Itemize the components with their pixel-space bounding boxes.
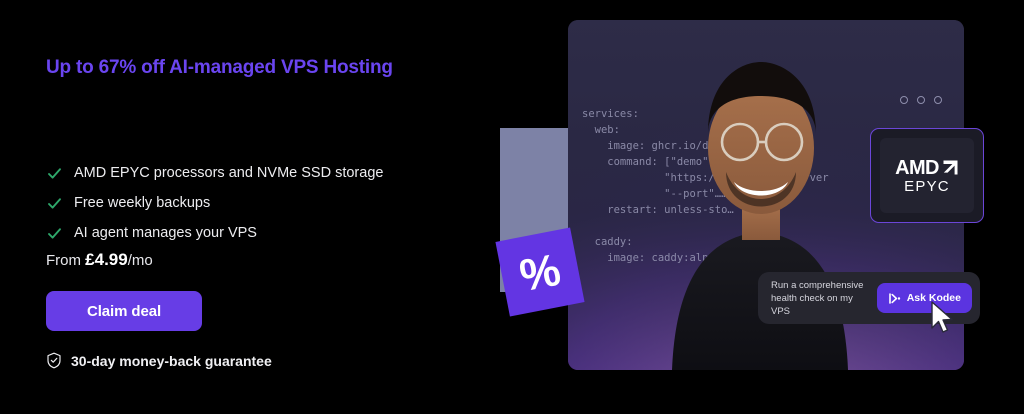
guarantee-badge: 30-day money-back guarantee xyxy=(46,352,272,369)
check-icon xyxy=(46,225,63,242)
window-dot-icon xyxy=(934,96,942,104)
promo-banner: Up to 67% off AI-managed VPS Hosting AMD… xyxy=(0,0,1024,414)
page-title: Up to 67% off AI-managed VPS Hosting xyxy=(46,56,446,80)
list-item: Free weekly backups xyxy=(46,191,383,215)
feature-label: AMD EPYC processors and NVMe SSD storage xyxy=(74,164,383,182)
ask-kodee-button[interactable]: Ask Kodee xyxy=(877,283,972,313)
feature-label: Free weekly backups xyxy=(74,194,210,212)
amd-brand-label: AMD xyxy=(895,158,939,178)
price-prefix: From xyxy=(46,252,81,269)
cursor-arrow-icon xyxy=(928,300,956,336)
amd-epyc-badge: AMD EPYC xyxy=(870,128,984,223)
feature-list: AMD EPYC processors and NVMe SSD storage… xyxy=(46,161,383,251)
window-controls xyxy=(900,96,942,104)
promo-copy-column: Up to 67% off AI-managed VPS Hosting AMD… xyxy=(46,56,446,80)
hero-visual: services: web: image: ghcr.io/de…………ine … xyxy=(480,0,1024,414)
epyc-label: EPYC xyxy=(904,179,950,194)
amd-arrow-icon xyxy=(942,159,959,176)
guarantee-label: 30-day money-back guarantee xyxy=(71,353,272,369)
kodee-icon xyxy=(888,292,901,305)
price-line: From £4.99/mo xyxy=(46,250,153,270)
amd-badge-inner: AMD EPYC xyxy=(880,138,974,213)
code-snippet: services: web: image: ghcr.io/de…………ine … xyxy=(582,106,829,266)
list-item: AI agent manages your VPS xyxy=(46,221,383,245)
window-dot-icon xyxy=(917,96,925,104)
shield-check-icon xyxy=(46,352,62,369)
check-icon xyxy=(46,195,63,212)
claim-deal-button[interactable]: Claim deal xyxy=(46,291,202,331)
chat-message: Run a comprehensive health check on my V… xyxy=(771,279,869,318)
feature-label: AI agent manages your VPS xyxy=(74,224,257,242)
discount-badge: % xyxy=(495,227,584,316)
percent-glyph: % xyxy=(516,246,564,298)
price-amount: £4.99 xyxy=(85,250,128,269)
window-dot-icon xyxy=(900,96,908,104)
check-icon xyxy=(46,165,63,182)
list-item: AMD EPYC processors and NVMe SSD storage xyxy=(46,161,383,185)
price-period: /mo xyxy=(128,252,153,269)
amd-wordmark: AMD xyxy=(895,158,959,178)
